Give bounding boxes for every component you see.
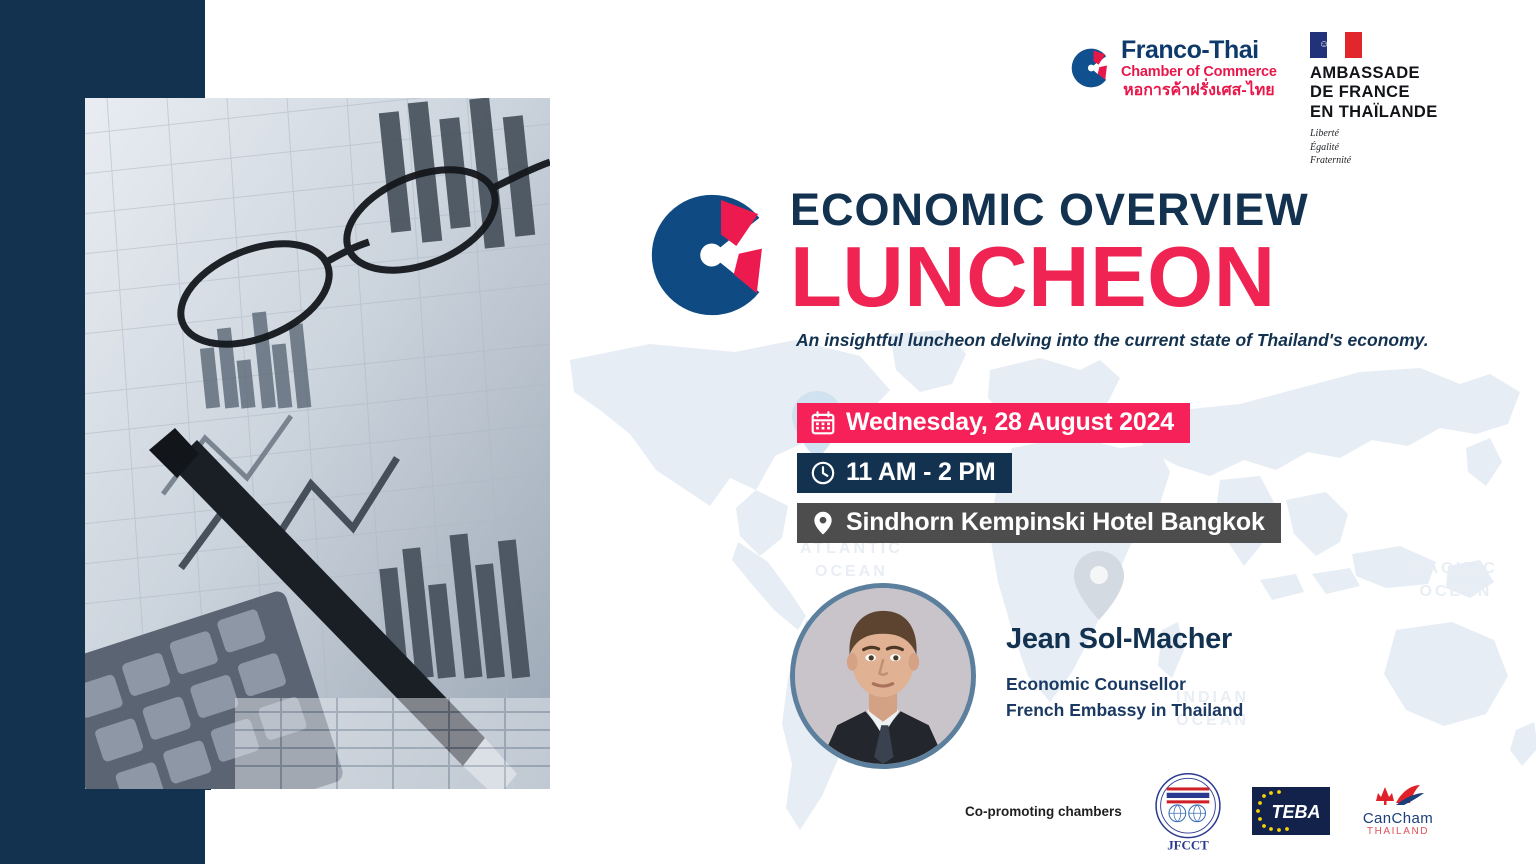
event-time-badge: 11 AM - 2 PM [797, 453, 1012, 493]
ftcc-thai-name: หอการค้าฝรั่งเศส-ไทย [1121, 83, 1277, 99]
embassy-motto-egalite: Égalité [1310, 141, 1480, 155]
event-location-badge: Sindhorn Kempinski Hotel Bangkok [797, 503, 1281, 543]
french-flag-icon: ☺ [1310, 32, 1362, 58]
ftcc-name: Franco-Thai [1121, 38, 1277, 63]
speaker-role-line-2: French Embassy in Thailand [1006, 698, 1243, 723]
title-line-2: LUNCHEON [790, 239, 1309, 317]
teba-logo-icon: TEBA [1252, 787, 1330, 835]
speaker-avatar [790, 583, 976, 769]
ftcc-subtitle: Chamber of Commerce [1121, 65, 1277, 80]
jfcct-logo-icon: JFCCT [1150, 769, 1226, 853]
embassy-line-1: AMBASSADE [1310, 64, 1480, 83]
event-location-text: Sindhorn Kempinski Hotel Bangkok [846, 508, 1265, 537]
map-pin-icon [810, 510, 836, 536]
map-label-pacific: PACIFIC OCEAN [1414, 557, 1498, 603]
ftcc-c-mark-icon [648, 191, 776, 319]
title-line-1: ECONOMIC OVERVIEW [790, 187, 1309, 232]
embassy-motto-liberte: Liberté [1310, 127, 1480, 141]
event-date-text: Wednesday, 28 August 2024 [846, 408, 1174, 437]
jfcct-abbr: JFCCT [1167, 838, 1209, 853]
header-logo-row: Franco-Thai Chamber of Commerce หอการค้า… [1060, 30, 1480, 150]
event-title-block: ECONOMIC OVERVIEW LUNCHEON An insightful… [648, 183, 1408, 351]
speaker-role: Economic Counsellor French Embassy in Th… [1006, 672, 1243, 723]
map-label-pacific-line2: OCEAN [1414, 580, 1498, 603]
embassy-motto-fraternite: Fraternité [1310, 154, 1480, 168]
marianne-glyph-icon: ☺ [1319, 39, 1333, 51]
french-embassy-logo: ☺ AMBASSADE DE FRANCE EN THAÏLANDE Liber… [1310, 32, 1480, 168]
poster-canvas: ATLANTIC OCEAN PACIFIC OCEAN INDIAN OCEA… [0, 0, 1536, 864]
ftcc-c-mark-icon [1070, 47, 1112, 89]
co-promoting-label: Co-promoting chambers [965, 804, 1150, 819]
cancham-logo-icon: CanCham THAILAND [1356, 783, 1440, 839]
clock-icon [810, 460, 836, 486]
map-label-atlantic-line2: OCEAN [800, 560, 903, 583]
cancham-line-2: THAILAND [1367, 826, 1429, 837]
teba-abbr: TEBA [1272, 802, 1321, 822]
cancham-line-1: CanCham [1363, 810, 1433, 827]
speaker-role-line-1: Economic Counsellor [1006, 672, 1243, 697]
event-tagline: An insightful luncheon delving into the … [796, 330, 1408, 351]
speaker-name: Jean Sol-Macher [1006, 623, 1243, 656]
embassy-motto: Liberté Égalité Fraternité [1310, 127, 1480, 168]
decorative-photo-financial-charts [85, 98, 550, 789]
ftcc-logo-header: Franco-Thai Chamber of Commerce หอการค้า… [1070, 38, 1277, 99]
embassy-line-3: EN THAÏLANDE [1310, 103, 1480, 122]
map-label-pacific-line1: PACIFIC [1414, 557, 1498, 580]
calendar-icon [810, 410, 836, 436]
embassy-line-2: DE FRANCE [1310, 83, 1480, 102]
event-time-text: 11 AM - 2 PM [846, 458, 996, 487]
speaker-block: Jean Sol-Macher Economic Counsellor Fren… [790, 583, 1243, 769]
co-promoting-chambers: Co-promoting chambers JFCCT [965, 766, 1485, 856]
event-details: Wednesday, 28 August 2024 11 AM - 2 PM S… [797, 403, 1281, 553]
event-date-badge: Wednesday, 28 August 2024 [797, 403, 1190, 443]
